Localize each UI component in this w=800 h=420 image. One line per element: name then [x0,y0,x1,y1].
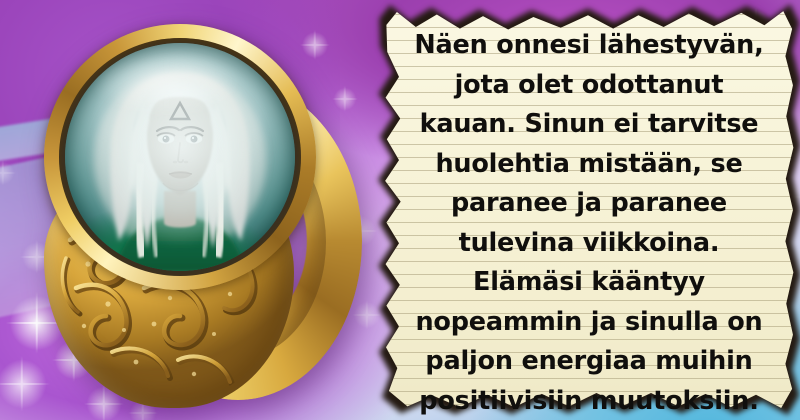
torn-paper-note: Näen onnesi lähestyvän, jota olet odotta… [378,2,798,418]
gem-highlight [93,52,240,116]
message-line: Elämäsi kääntyy [408,263,770,303]
fortune-message: Näen onnesi lähestyvän, jota olet odotta… [408,26,770,420]
message-line: nopeammin ja sinulla on [408,303,770,343]
gold-signet-ring [18,8,368,408]
message-line: paljon energiaa muihin [408,342,770,382]
message-line: tulevina viikkoina. [408,224,770,264]
message-line: paranee ja paranee [408,184,770,224]
image-canvas: Näen onnesi lähestyvän, jota olet odotta… [0,0,800,420]
message-line: jota olet odottanut [408,66,770,106]
cabochon-gemstone [65,43,295,271]
message-line: Näen onnesi lähestyvän, [408,26,770,66]
message-line: positiivisiin muutoksiin. [408,382,770,420]
message-line: kauan. Sinun ei tarvitse [408,105,770,145]
message-line: huolehtia mistään, se [408,145,770,185]
